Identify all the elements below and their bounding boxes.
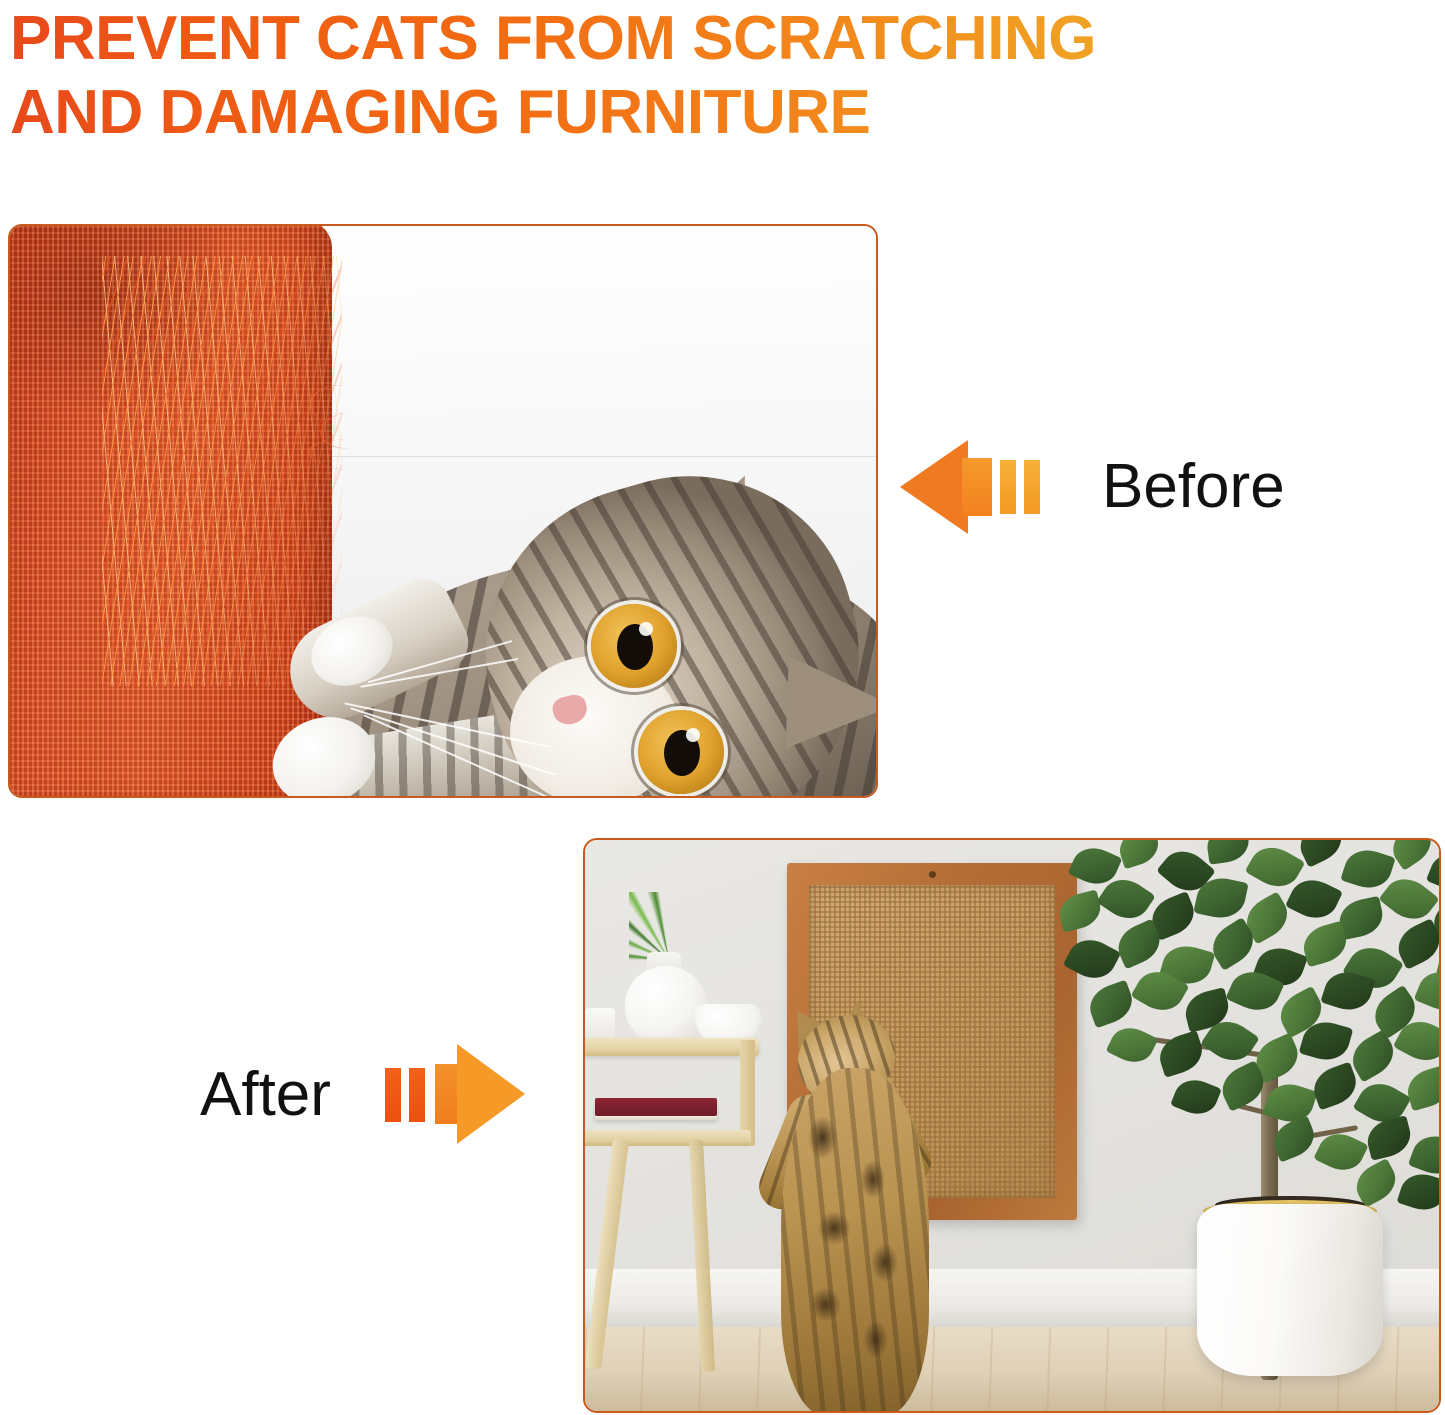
arrow-bar-1 [385,1068,401,1122]
headline-line-1: PREVENT CATS FROM SCRATCHING [10,2,1440,76]
cat-eye-glint [686,728,700,742]
leaf [1414,964,1439,1017]
shredded-fabric-damage [102,256,342,686]
leaf [1268,1115,1320,1162]
arrow-head [900,440,968,534]
arrow-bar-2 [409,1068,425,1122]
arrow-bar-1 [1000,460,1016,514]
after-label: After [200,1064,331,1126]
leaf [1313,1126,1368,1178]
after-photo-scene [585,840,1439,1411]
after-callout: After [200,1040,525,1150]
leaf [1308,1062,1362,1111]
arrow-right-icon [375,1040,525,1150]
headline-block: PREVENT CATS FROM SCRATCHING AND DAMAGIN… [10,2,1440,150]
leaf [1063,931,1121,986]
side-table-top [585,1038,759,1056]
arrow-bar-2 [1024,460,1040,514]
arrow-head [457,1044,525,1144]
cat-eye-left [591,604,677,688]
white-planter-pot [1197,1204,1383,1376]
stacked-books [595,1098,717,1116]
side-table-lower-shelf [585,1130,751,1146]
leaf [1397,1168,1439,1216]
leaf [1205,840,1252,865]
tile-seam [310,456,876,457]
arrow-left-icon [900,432,1050,542]
leaf [1056,889,1105,932]
cat-eye-right [638,710,724,794]
white-round-vase [625,966,707,1044]
leaf [1408,1129,1439,1180]
leaf [1155,1030,1208,1078]
ficus-tree-canopy [1055,840,1439,1222]
after-photo [583,838,1441,1413]
mat-mounting-screw [929,871,936,878]
cat-body [781,1068,929,1411]
before-photo [8,224,878,798]
leaf [1299,921,1351,968]
leaf [1106,1021,1159,1070]
before-label: Before [1102,456,1285,518]
before-photo-scene [10,226,876,796]
leaf [1115,840,1164,869]
leaf [1084,980,1138,1029]
leaf [1363,1115,1414,1161]
product-infographic: PREVENT CATS FROM SCRATCHING AND DAMAGIN… [0,0,1445,1415]
potted-grass-plant [629,892,709,960]
before-callout: Before [900,432,1285,542]
arrow-stem [962,458,992,516]
headline-line-2: AND DAMAGING FURNITURE [10,76,1440,150]
leaf [1403,1065,1439,1112]
leaf [1170,1073,1222,1120]
cat-ear-right [786,656,876,752]
cat-eye-glint [639,622,653,636]
